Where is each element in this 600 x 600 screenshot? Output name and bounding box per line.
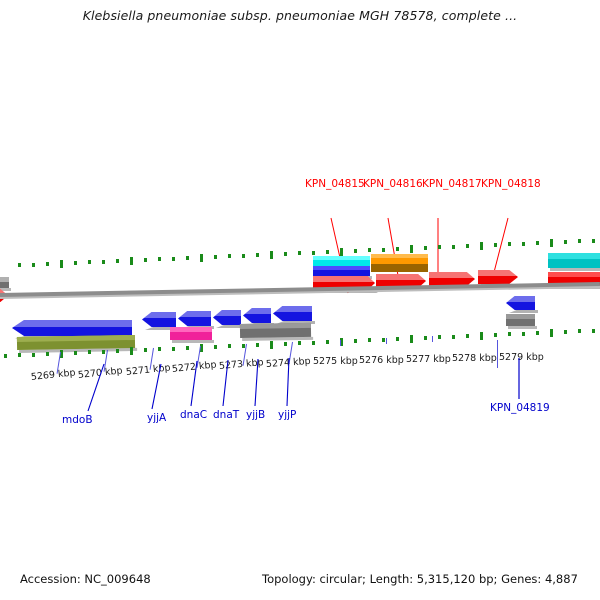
genome-map-canvas[interactable]: KPN_04815 KPN_04816 KPN_04817 KPN_04818: [0, 150, 600, 430]
gene-label-mdob[interactable]: mdoB: [62, 414, 93, 426]
feature-reverse-cds-yjjb[interactable]: [243, 308, 271, 323]
gene-label-yjja[interactable]: yjjA: [147, 412, 166, 424]
feature-reverse-cds-dnat[interactable]: [213, 310, 241, 325]
feature-blue-kpn-04815[interactable]: [313, 266, 370, 276]
feature-teal-right[interactable]: [548, 253, 600, 268]
gene-label-yjjp[interactable]: yjjP: [278, 409, 296, 421]
feature-gray-edge[interactable]: [0, 277, 9, 288]
feature-gray-kpn-04819[interactable]: [506, 314, 535, 326]
ruler-track-upper: [0, 242, 600, 272]
accession-label: Accession: NC_009648: [20, 572, 151, 586]
feature-reverse-cds-dnac[interactable]: [178, 311, 211, 326]
gene-label-dnat[interactable]: dnaT: [213, 409, 239, 421]
gene-label-kpn-04819[interactable]: KPN_04819: [490, 402, 550, 414]
genome-backbone: [0, 150, 600, 180]
feature-orange-kpn-04816[interactable]: [371, 254, 428, 264]
genome-map-viewer: Klebsiella pneumoniae subsp. pneumoniae …: [0, 0, 600, 600]
gene-label-yjjb[interactable]: yjjB: [246, 409, 265, 421]
feature-cyan-kpn-04815[interactable]: [313, 256, 370, 266]
status-bar: Accession: NC_009648 Topology: circular;…: [0, 572, 600, 594]
feature-reverse-cds-kpn-04819[interactable]: [506, 296, 535, 310]
genome-metadata-label: Topology: circular; Length: 5,315,120 bp…: [262, 572, 578, 586]
feature-forward-cds-4[interactable]: [478, 270, 518, 284]
feature-reverse-cds-yjja[interactable]: [142, 312, 176, 327]
feature-reverse-cds-yjjp[interactable]: [273, 306, 312, 321]
page-title: Klebsiella pneumoniae subsp. pneumoniae …: [0, 8, 600, 23]
gene-label-dnac[interactable]: dnaC: [180, 409, 207, 421]
feature-orange-shadow-kpn-04816: [371, 264, 428, 272]
